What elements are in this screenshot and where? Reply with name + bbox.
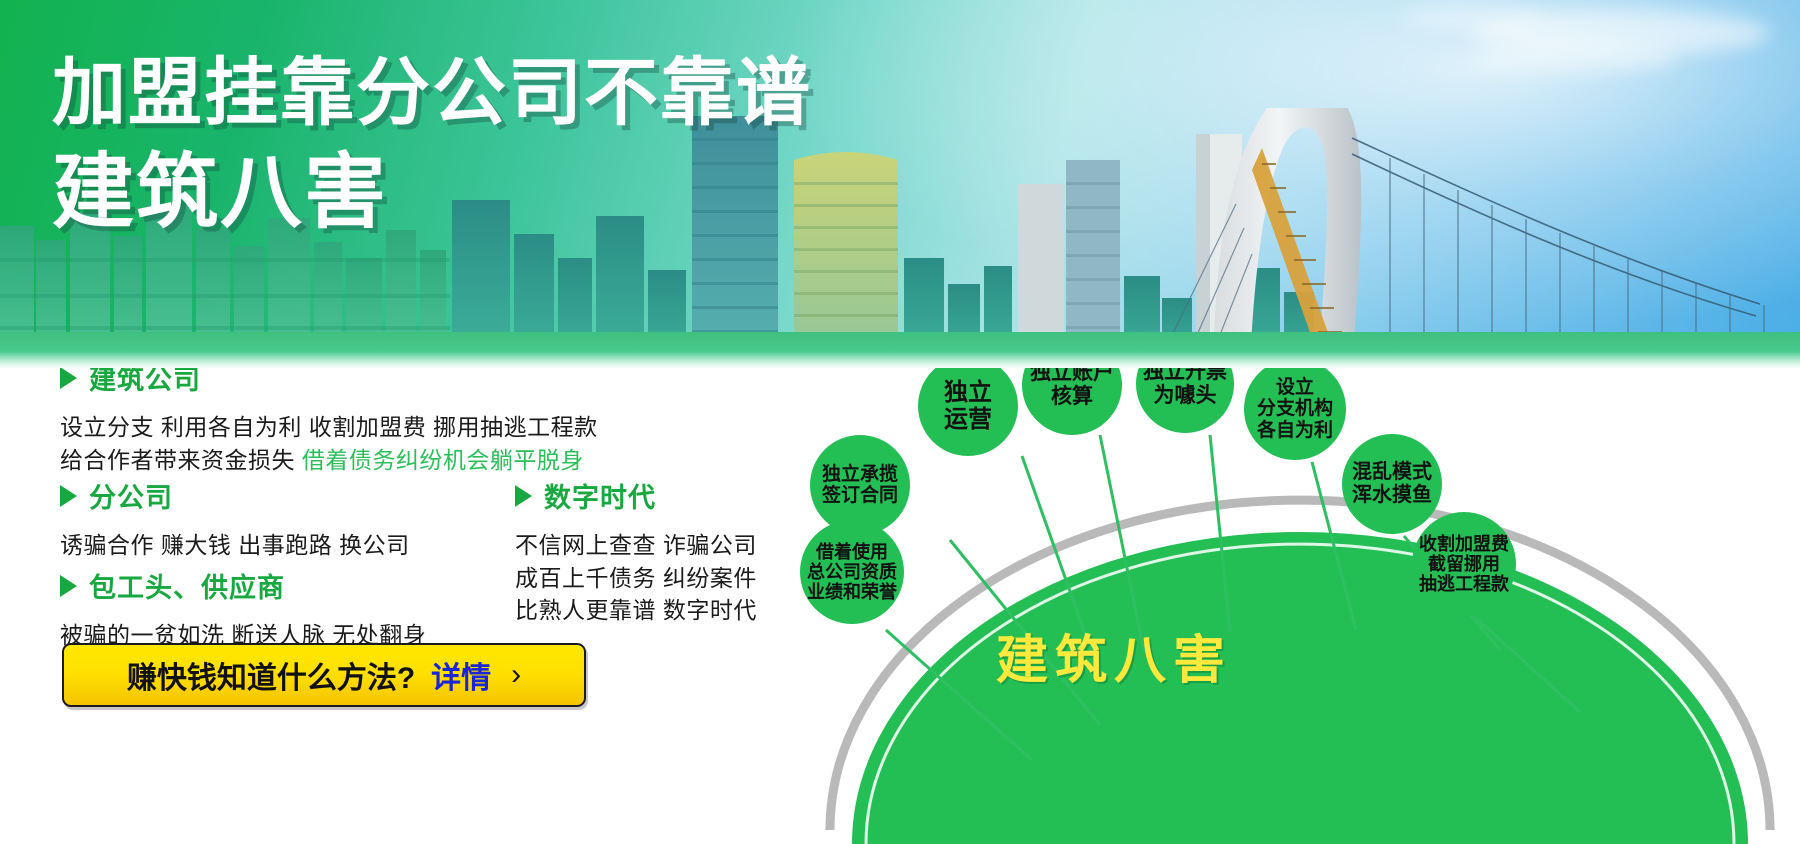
body-text-green: 借着债务纠纷机会躺平脱身	[302, 447, 584, 473]
section-contractor-supplier: 包工头、供应商 被骗的一贫如洗 断送人脉 无处翻身	[60, 566, 426, 652]
chevron-right-icon: ›	[511, 660, 521, 690]
section-header: 数字时代	[515, 476, 757, 515]
bubble-label: 独立承揽签订合同	[822, 464, 898, 507]
bubble-independent-operate[interactable]: 独立运营	[918, 356, 1018, 456]
bubble-diagram: 建筑八害 借着使用总公司资质业绩和荣誉独立承揽签订合同独立运营独立账户核算独立开…	[800, 330, 1800, 844]
body-line: 给合作者带来资金损失 借着债务纠纷机会躺平脱身	[60, 444, 598, 477]
hero-title-line1: 加盟挂靠分公司不靠谱	[52, 56, 812, 130]
body-line: 比熟人更靠谱 数字时代	[515, 594, 757, 627]
body-line: 设立分支 利用各自为利 收割加盟费 挪用抽逃工程款	[60, 411, 598, 444]
section-body: 不信网上查查 诈骗公司 成百上千债务 纠纷案件 比熟人更靠谱 数字时代	[515, 529, 757, 627]
bubble-harvest-fee[interactable]: 收割加盟费截留挪用抽逃工程款	[1412, 512, 1516, 616]
hero-fade	[0, 352, 1800, 368]
section-title: 数字时代	[544, 476, 656, 515]
triangle-bullet-icon	[515, 485, 532, 507]
body-text-black: 不信网上查查 诈骗公司	[515, 532, 757, 558]
bubble-label: 独立运营	[944, 379, 992, 433]
bubble-label: 借着使用总公司资质业绩和荣誉	[807, 542, 897, 603]
bubble-label: 独立账户核算	[1030, 361, 1114, 408]
hero-banner: 加盟挂靠分公司不靠谱 建筑八害	[0, 0, 1800, 368]
bubble-setup-branch[interactable]: 设立分支机构各自为利	[1244, 358, 1346, 460]
body-text-black: 成百上千债务 纠纷案件	[515, 565, 757, 591]
cloud-icon	[1470, 44, 1680, 74]
body-text-black: 给合作者带来资金损失	[60, 447, 302, 473]
bubble-borrow-qualification[interactable]: 借着使用总公司资质业绩和荣誉	[800, 520, 904, 624]
body-text-black: 诱骗合作 赚大钱 出事跑路 换公司	[60, 532, 410, 558]
section-branch-company: 分公司 诱骗合作 赚大钱 出事跑路 换公司	[60, 476, 410, 562]
bubble-label: 混乱模式浑水摸鱼	[1352, 461, 1432, 506]
section-construction-company: 建筑公司 设立分支 利用各自为利 收割加盟费 挪用抽逃工程款 给合作者带来资金损…	[60, 358, 598, 476]
bubble-independent-contract[interactable]: 独立承揽签订合同	[810, 435, 910, 535]
section-digital-era: 数字时代 不信网上查查 诈骗公司 成百上千债务 纠纷案件 比熟人更靠谱 数字时代	[515, 476, 757, 627]
dome-label: 建筑八害	[996, 618, 1232, 693]
body-text-black: 设立分支 利用各自为利 收割加盟费 挪用抽逃工程款	[60, 414, 598, 440]
body-line: 成百上千债务 纠纷案件	[515, 562, 757, 595]
section-title: 分公司	[89, 476, 173, 515]
body-line: 不信网上查查 诈骗公司	[515, 529, 757, 562]
triangle-bullet-icon	[60, 367, 77, 389]
bubble-label: 设立分支机构各自为利	[1257, 377, 1333, 441]
section-title: 包工头、供应商	[89, 566, 285, 605]
cloud-icon	[1400, 4, 1550, 30]
cta-button[interactable]: 赚快钱知道什么方法? 详情 ›	[62, 643, 586, 707]
poster-page: 加盟挂靠分公司不靠谱 建筑八害 建筑公司 设立分支 利用各自为利 收割加盟费 挪…	[0, 0, 1800, 844]
triangle-bullet-icon	[60, 575, 77, 597]
bubble-label: 收割加盟费截留挪用抽逃工程款	[1419, 534, 1509, 595]
section-header: 包工头、供应商	[60, 566, 426, 605]
left-content: 建筑公司 设立分支 利用各自为利 收割加盟费 挪用抽逃工程款 给合作者带来资金损…	[0, 368, 840, 844]
section-header: 分公司	[60, 476, 410, 515]
cta-main-label: 赚快钱知道什么方法?	[127, 653, 415, 697]
bubble-chaotic-mode[interactable]: 混乱模式浑水摸鱼	[1342, 434, 1442, 534]
section-body: 设立分支 利用各自为利 收割加盟费 挪用抽逃工程款 给合作者带来资金损失 借着债…	[60, 411, 598, 476]
hero-title: 加盟挂靠分公司不靠谱 建筑八害	[52, 56, 812, 234]
body-text-black: 比熟人更靠谱 数字时代	[515, 597, 757, 623]
section-body: 诱骗合作 赚大钱 出事跑路 换公司	[60, 529, 410, 562]
triangle-bullet-icon	[60, 485, 77, 507]
cta-link-label[interactable]: 详情	[431, 653, 491, 697]
body-line: 诱骗合作 赚大钱 出事跑路 换公司	[60, 529, 410, 562]
hero-title-line2: 建筑八害	[52, 152, 812, 234]
